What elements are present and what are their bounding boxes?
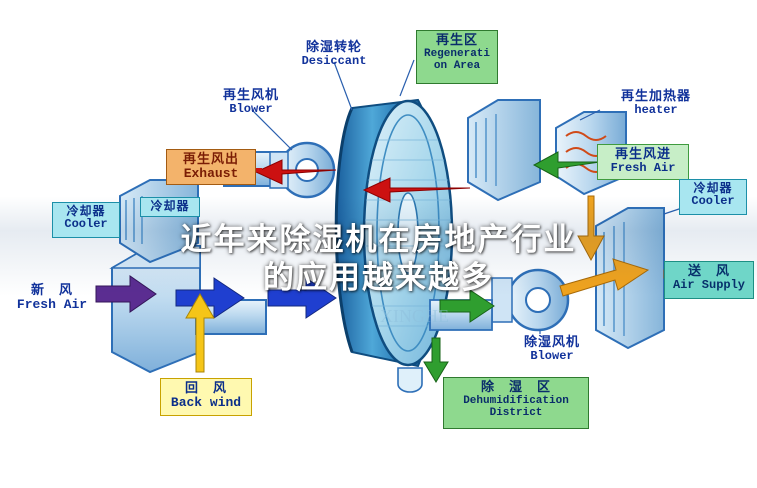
label-regeneration-blower: 再生风机 Blower: [205, 86, 297, 122]
label-en: Dehumidification District: [447, 395, 585, 420]
label-en: Fresh Air: [7, 298, 97, 313]
diagram-canvas: XINGHE 除湿转轮 Desiccant 再生区 Regenerati on …: [0, 0, 757, 488]
label-cn: 冷却器: [144, 200, 196, 213]
label-cn: 再生加热器: [605, 89, 707, 104]
label-desiccant-wheel: 除湿转轮 Desiccant: [286, 38, 382, 74]
label-en: Back wind: [164, 396, 248, 411]
label-cn: 除湿风机: [509, 335, 595, 350]
label-en: Fresh Air: [601, 162, 685, 175]
label-cn: 再生风出: [170, 152, 252, 167]
label-en: Cooler: [683, 195, 743, 208]
label-back-wind: 回 风 Back wind: [160, 378, 252, 416]
watermark-text: XINGHE: [380, 306, 449, 326]
label-cn: 再生风机: [208, 88, 294, 103]
label-en: Blower: [509, 350, 595, 363]
label-en: Blower: [208, 103, 294, 116]
label-cn: 除湿转轮: [289, 40, 379, 55]
label-en: Desiccant: [289, 55, 379, 68]
label-en: heater: [605, 104, 707, 117]
label-cn: 冷却器: [683, 182, 743, 195]
label-cn: 再生区: [420, 33, 494, 48]
label-en: Exhaust: [170, 167, 252, 182]
overlay-title-line2: 的应用越来越多: [0, 252, 757, 297]
label-cooler-right: 冷却器 Cooler: [679, 179, 747, 215]
label-regeneration-area: 再生区 Regenerati on Area: [416, 30, 498, 84]
label-cn: 除 湿 区: [447, 380, 585, 395]
label-exhaust: 再生风出 Exhaust: [166, 149, 256, 185]
label-en: Regenerati on Area: [420, 48, 494, 73]
label-regeneration-heater: 再生加热器 heater: [602, 87, 710, 123]
label-fresh-air-regeneration: 再生风进 Fresh Air: [597, 144, 689, 180]
label-dehumidification-district: 除 湿 区 Dehumidification District: [443, 377, 589, 429]
label-dehumidification-blower: 除湿风机 Blower: [506, 333, 598, 369]
label-cn: 回 风: [164, 381, 248, 396]
label-cn: 再生风进: [601, 147, 685, 162]
regeneration-coil: [468, 100, 540, 200]
